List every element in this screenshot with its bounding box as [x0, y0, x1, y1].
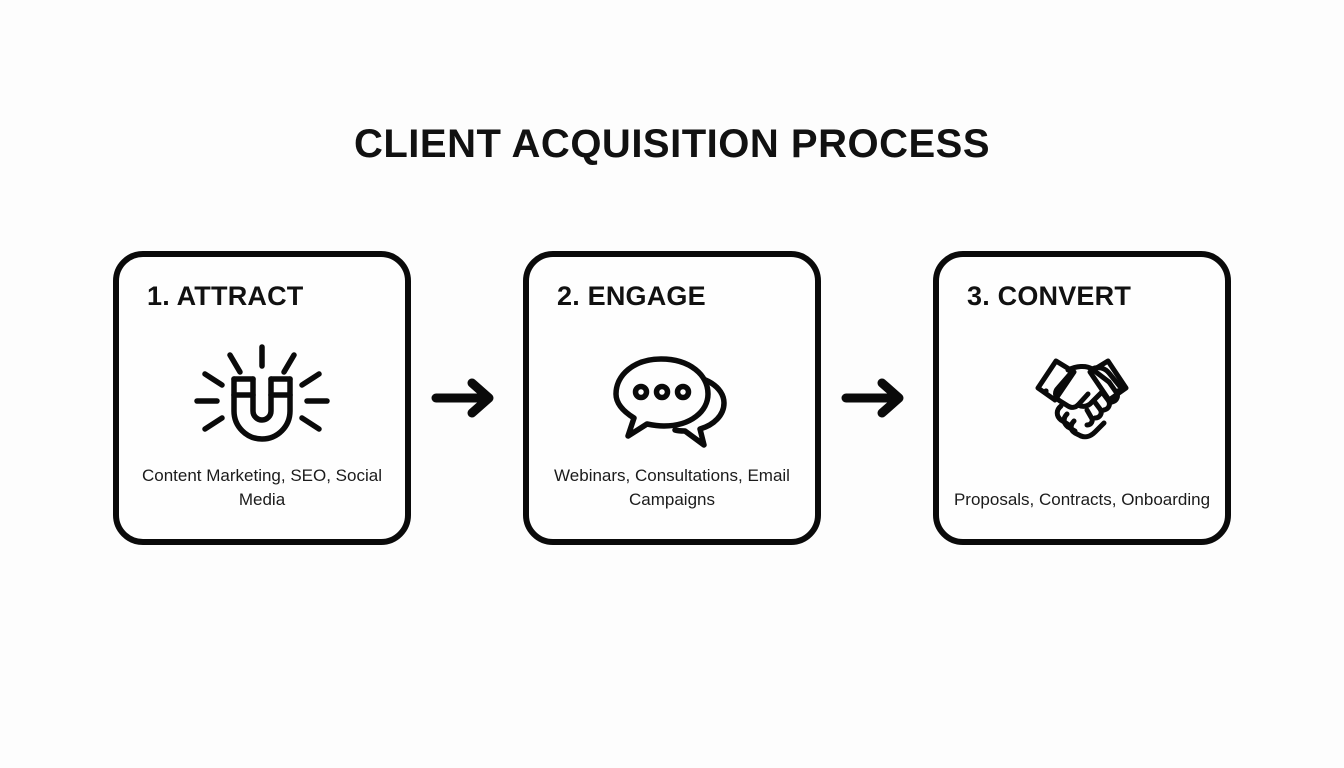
process-flow-row: 1. ATTRACT — [113, 251, 1231, 545]
step-card-engage[interactable]: 2. ENGAGE Webinars, Consultations, Email… — [523, 251, 821, 545]
step-description: Webinars, Consultations, Email Campaigns — [543, 464, 801, 513]
diagram-canvas: CLIENT ACQUISITION PROCESS 1. ATTRACT — [0, 0, 1344, 768]
step-heading: 3. CONVERT — [967, 283, 1131, 310]
arrow-right-icon — [840, 375, 914, 421]
step-heading: 1. ATTRACT — [147, 283, 304, 310]
magnet-icon — [119, 335, 405, 459]
handshake-icon — [939, 335, 1225, 459]
step-card-convert[interactable]: 3. CONVERT — [933, 251, 1231, 545]
step-description: Proposals, Contracts, Onboarding — [953, 488, 1211, 513]
step-card-attract[interactable]: 1. ATTRACT — [113, 251, 411, 545]
step-description: Content Marketing, SEO, Social Media — [133, 464, 391, 513]
arrow-right-icon — [430, 375, 504, 421]
page-title: CLIENT ACQUISITION PROCESS — [0, 122, 1344, 167]
speech-bubbles-icon — [529, 335, 815, 459]
step-heading: 2. ENGAGE — [557, 283, 706, 310]
